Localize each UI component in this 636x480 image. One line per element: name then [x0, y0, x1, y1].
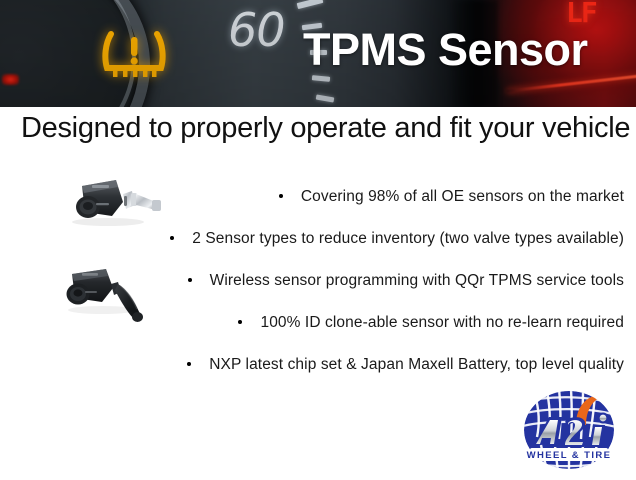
logo-tagline-text: WHEEL & TIRE	[527, 450, 612, 461]
tpms-warning-light-icon	[101, 28, 167, 80]
list-item: Covering 98% of all OE sensors on the ma…	[0, 176, 636, 218]
indicator-light-red	[2, 74, 19, 85]
header-banner-image: 60 LF TPMS Sensor	[0, 0, 636, 107]
page-title: TPMS Sensor	[303, 24, 588, 76]
bullet-point-icon	[187, 362, 191, 366]
slide-subtitle: Designed to properly operate and fit you…	[21, 112, 621, 145]
list-item: 2 Sensor types to reduce inventory (two …	[0, 218, 636, 260]
company-logo: WHEEL & TIRE	[513, 389, 625, 475]
bullet-point-icon	[279, 194, 283, 198]
speedometer-number: 60	[228, 3, 285, 57]
list-item-label: 100% ID clone-able sensor with no re-lea…	[260, 314, 624, 332]
list-item-label: NXP latest chip set & Japan Maxell Batte…	[209, 356, 624, 374]
list-item-label: Covering 98% of all OE sensors on the ma…	[301, 188, 624, 206]
list-item: NXP latest chip set & Japan Maxell Batte…	[0, 344, 636, 386]
bullet-point-icon	[170, 236, 174, 240]
bullet-list: Covering 98% of all OE sensors on the ma…	[0, 176, 636, 386]
list-item: Wireless sensor programming with QQr TPM…	[0, 260, 636, 302]
bullet-point-icon	[238, 320, 242, 324]
bullet-point-icon	[188, 278, 192, 282]
list-item: 100% ID clone-able sensor with no re-lea…	[0, 302, 636, 344]
slide-canvas: 60 LF TPMS Sensor Designed to properly o…	[0, 0, 636, 480]
list-item-label: 2 Sensor types to reduce inventory (two …	[192, 230, 624, 248]
list-item-label: Wireless sensor programming with QQr TPM…	[210, 272, 624, 290]
